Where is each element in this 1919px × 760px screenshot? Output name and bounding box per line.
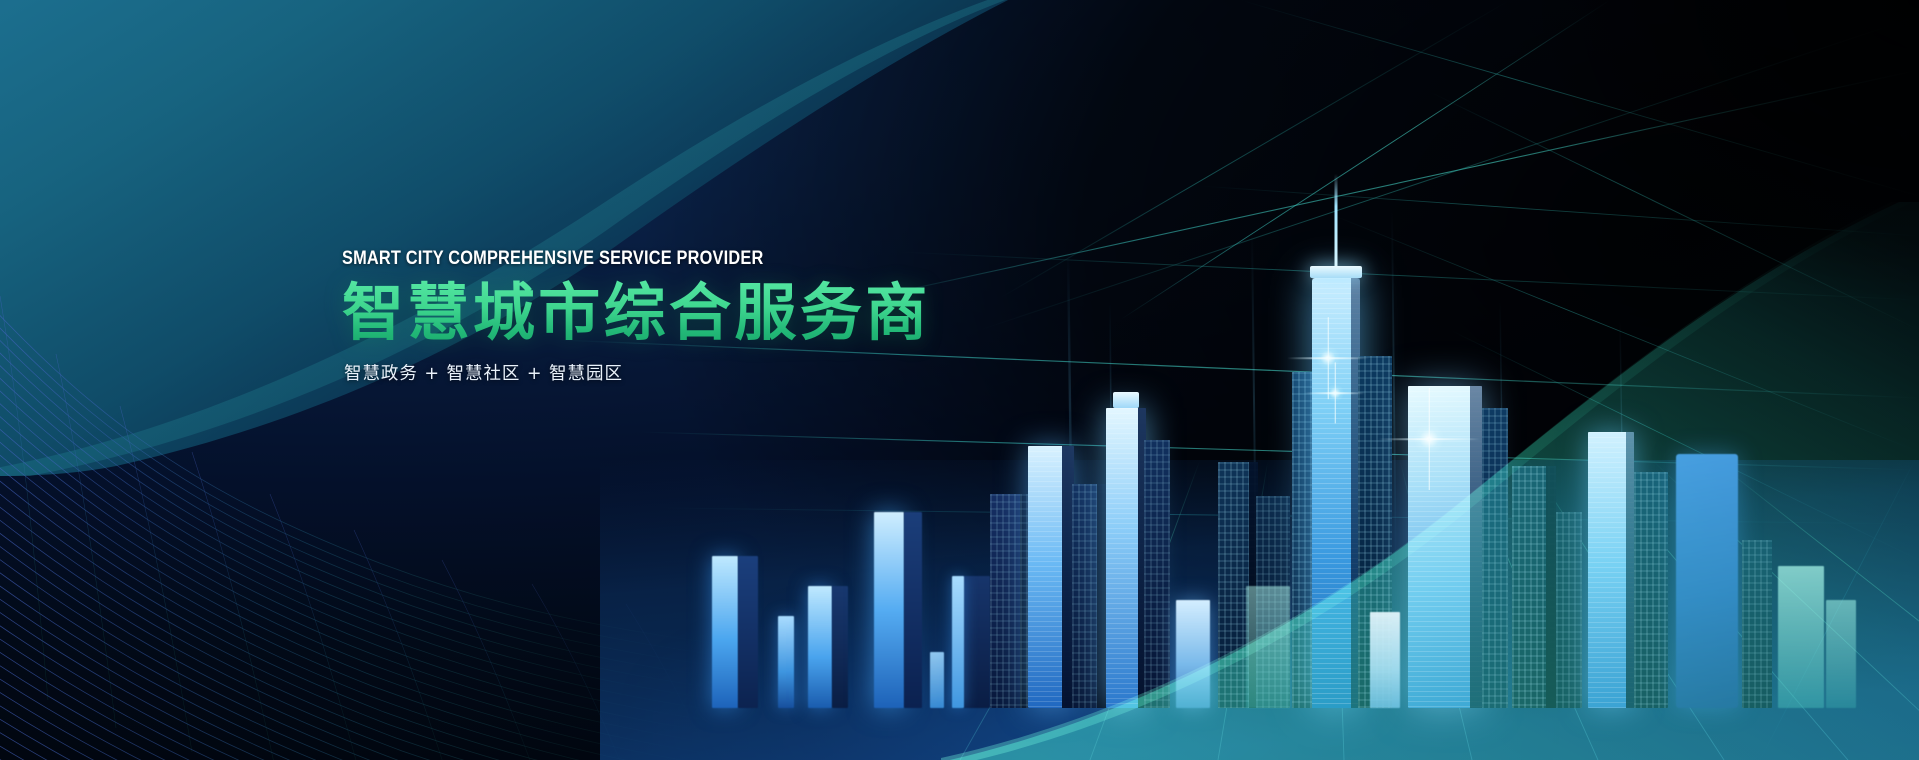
banner-headline: 智慧城市综合服务商 bbox=[342, 280, 1122, 346]
building-slab bbox=[712, 556, 738, 708]
headline-block: SMART CITY COMPREHENSIVE SERVICE PROVIDE… bbox=[342, 248, 1122, 385]
building-slab bbox=[874, 512, 904, 708]
banner-subline: 智慧政务 + 智慧社区 + 智慧园区 bbox=[344, 360, 1122, 385]
building-slab bbox=[904, 512, 922, 708]
building-slab bbox=[808, 586, 832, 708]
banner-eyebrow: SMART CITY COMPREHENSIVE SERVICE PROVIDE… bbox=[342, 248, 1013, 270]
corner-top-right-shadow bbox=[1299, 0, 1919, 420]
smart-city-hero-banner: SMART CITY COMPREHENSIVE SERVICE PROVIDE… bbox=[0, 0, 1919, 760]
building-slab bbox=[778, 616, 794, 708]
building-slab bbox=[738, 556, 758, 708]
building-slab bbox=[832, 586, 848, 708]
